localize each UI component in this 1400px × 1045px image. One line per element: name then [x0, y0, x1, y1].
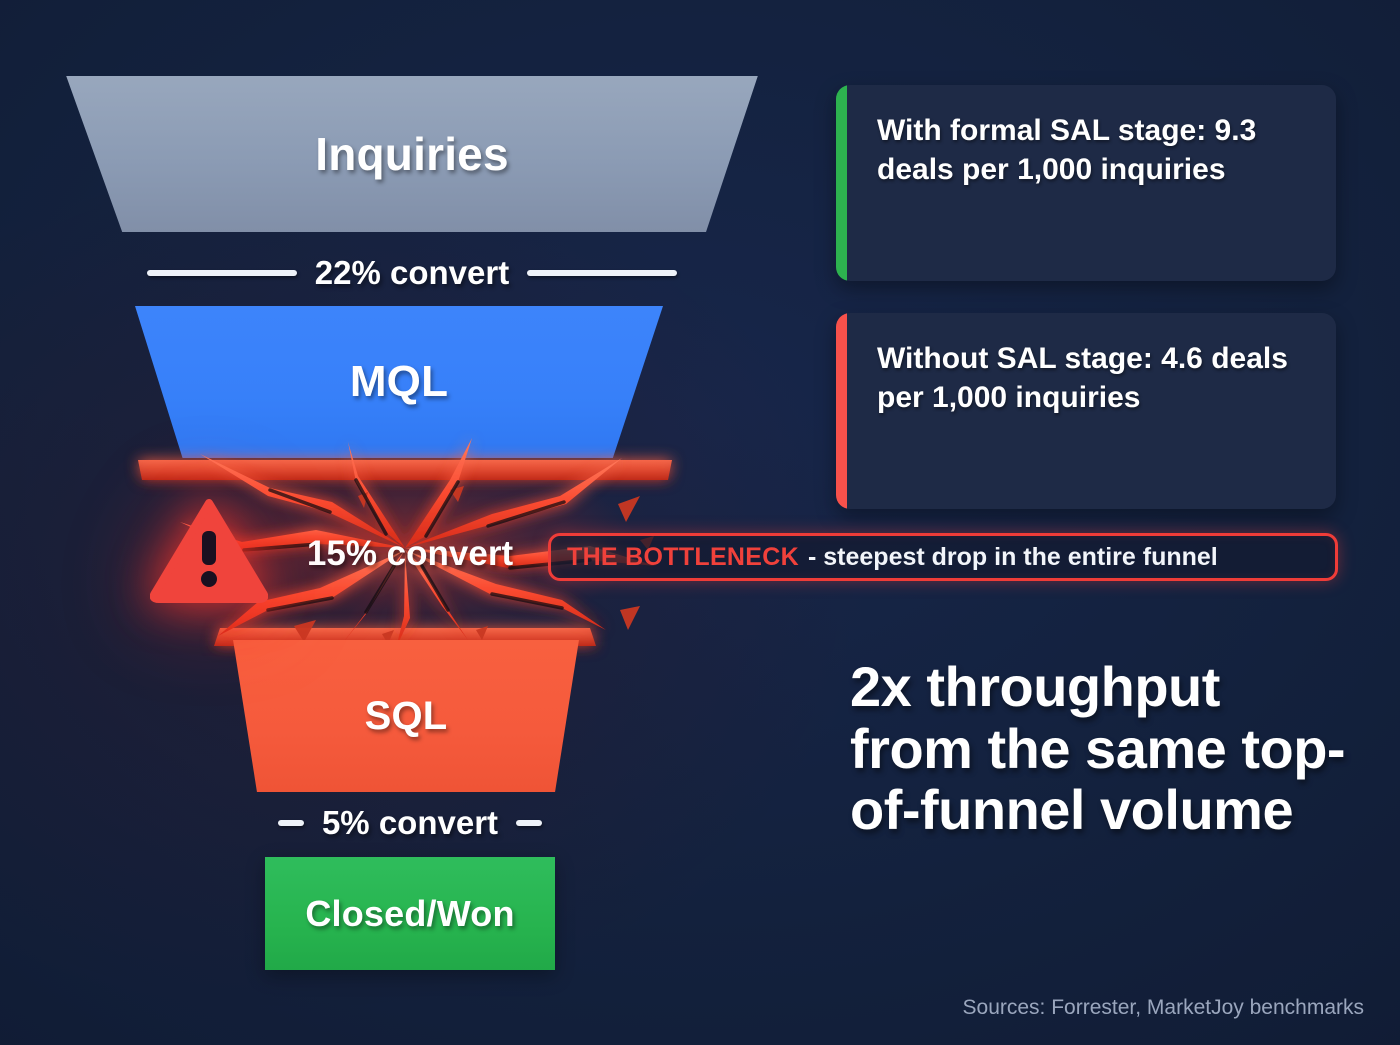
stat-card-with-sal: With formal SAL stage: 9.3 deals per 1,0…	[836, 85, 1336, 281]
divider-rule-left	[147, 270, 297, 276]
funnel-stage-label-mql: MQL	[350, 357, 448, 407]
stat-card-text-without-sal: Without SAL stage: 4.6 deals per 1,000 i…	[877, 339, 1312, 417]
bottleneck-title: THE BOTTLENECK	[567, 543, 799, 572]
funnel-diagram: Inquiries 22% convert MQL	[0, 0, 820, 1045]
conversion-label-1: 22% convert	[315, 254, 509, 292]
conversion-divider-sql-to-closed: 5% convert	[245, 802, 575, 844]
conversion-divider-inquiries-to-mql: 22% convert	[118, 252, 706, 294]
divider-rule-left-3	[278, 820, 304, 826]
bottleneck-callout: THE BOTTLENECK - steepest drop in the en…	[548, 533, 1338, 581]
stat-card-without-sal: Without SAL stage: 4.6 deals per 1,000 i…	[836, 313, 1336, 509]
funnel-stage-label-closed-won: Closed/Won	[305, 893, 514, 935]
stat-card-body: Without SAL stage: 4.6 deals per 1,000 i…	[847, 313, 1336, 509]
conversion-label-2: 15% convert	[307, 534, 513, 574]
funnel-stage-sql: SQL	[222, 640, 590, 792]
funnel-stage-label-sql: SQL	[365, 694, 448, 739]
stat-card-body: With formal SAL stage: 9.3 deals per 1,0…	[847, 85, 1336, 281]
funnel-stage-closed-won: Closed/Won	[265, 857, 555, 970]
bottleneck-description: - steepest drop in the entire funnel	[808, 543, 1218, 572]
warning-triangle-icon	[150, 495, 268, 603]
conversion-divider-mql-to-sql: 15% convert	[230, 532, 590, 576]
headline-text: 2x throughput from the same top-of-funne…	[850, 656, 1350, 841]
funnel-stage-label-inquiries: Inquiries	[315, 127, 509, 181]
stat-card-accent-green	[836, 85, 847, 281]
stat-card-text-with-sal: With formal SAL stage: 9.3 deals per 1,0…	[877, 111, 1312, 189]
divider-rule-right-3	[516, 820, 542, 826]
conversion-label-3: 5% convert	[322, 804, 498, 842]
infographic-canvas: Inquiries 22% convert MQL	[0, 0, 1400, 1045]
funnel-stage-inquiries: Inquiries	[62, 76, 762, 232]
sources-footnote: Sources: Forrester, MarketJoy benchmarks	[963, 996, 1364, 1020]
stat-card-accent-red	[836, 313, 847, 509]
divider-rule-right	[527, 270, 677, 276]
funnel-stage-mql: MQL	[135, 306, 663, 458]
